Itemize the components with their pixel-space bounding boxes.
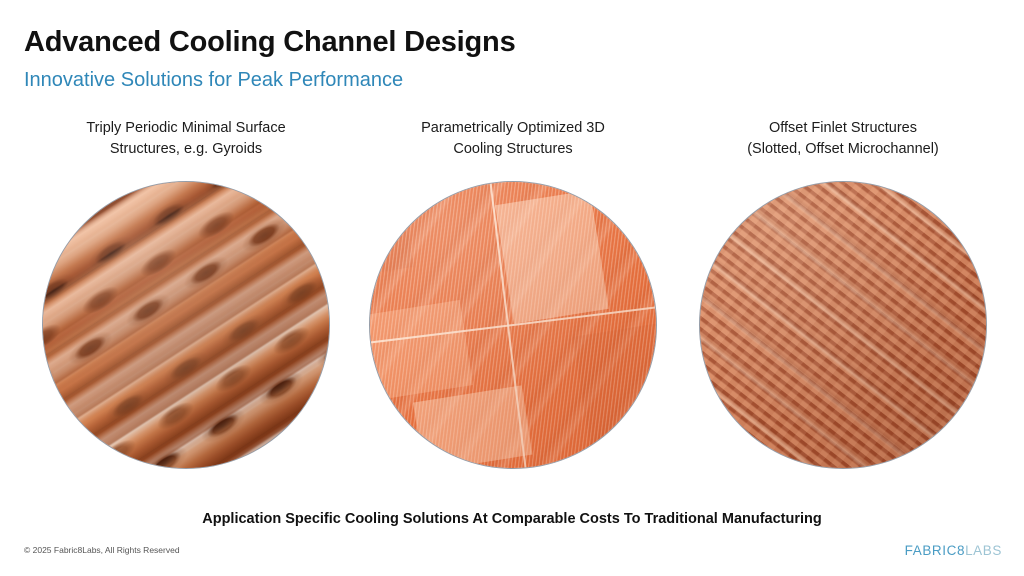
- column-caption-parametric: Parametrically Optimized 3D Cooling Stru…: [363, 118, 663, 160]
- column-caption-tpms: Triply Periodic Minimal Surface Structur…: [36, 118, 336, 160]
- gyroid-lattice-specimen: [43, 182, 329, 468]
- column-tpms: Triply Periodic Minimal Surface Structur…: [21, 118, 351, 468]
- page-title: Advanced Cooling Channel Designs: [24, 26, 516, 59]
- specimen-wrap-tpms: [43, 182, 329, 468]
- brand-logo-secondary: LABS: [965, 543, 1002, 558]
- copyright-notice: © 2025 Fabric8Labs, All Rights Reserved: [24, 545, 180, 555]
- specimen-shading-layer: [370, 182, 656, 468]
- offset-finlet-specimen: [700, 182, 986, 468]
- brand-logo-primary: FABRIC8: [905, 543, 965, 558]
- specimen-shading-layer: [700, 182, 986, 468]
- parametric-cooling-specimen: [370, 182, 656, 468]
- column-finlet: Offset Finlet Structures (Slotted, Offse…: [678, 118, 1008, 468]
- brand-logo: FABRIC8LABS: [905, 543, 1002, 558]
- specimen-wrap-parametric: [370, 182, 656, 468]
- specimen-shading-layer: [43, 182, 329, 468]
- tagline: Application Specific Cooling Solutions A…: [0, 511, 1024, 527]
- column-caption-finlet: Offset Finlet Structures (Slotted, Offse…: [693, 118, 993, 160]
- column-parametric: Parametrically Optimized 3D Cooling Stru…: [348, 118, 678, 468]
- specimen-wrap-finlet: [700, 182, 986, 468]
- page-subtitle: Innovative Solutions for Peak Performanc…: [24, 69, 403, 92]
